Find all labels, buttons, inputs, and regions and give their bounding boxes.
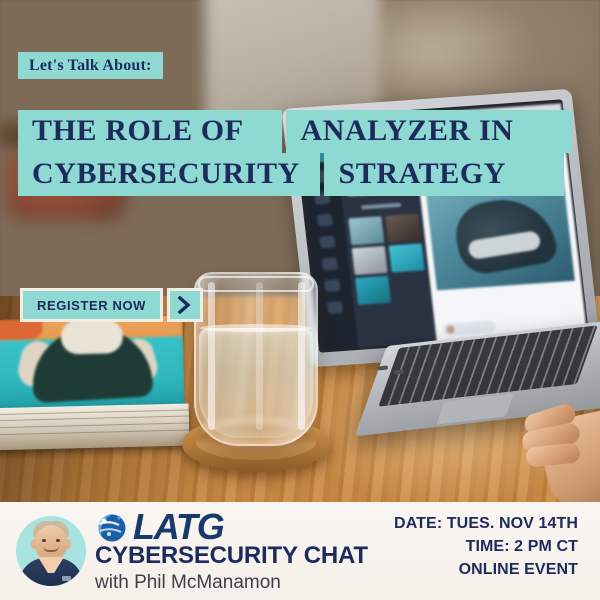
logo-row: LATG (95, 510, 395, 544)
headline-text-3: CYBERSECURITY (32, 156, 300, 191)
headline-text-4: STRATEGY (338, 156, 506, 191)
headline-line-1: THE ROLE OF (18, 110, 282, 153)
show-title: CYBERSECURITY CHAT (95, 542, 395, 570)
cover-blur (0, 316, 185, 413)
magazine-cover (0, 316, 185, 413)
avatar (16, 516, 86, 586)
logo-wordmark: LATG (133, 511, 224, 543)
promo-graphic: Let's Talk About: THE ROLE OF ANALYZER I… (0, 0, 600, 600)
event-time: TIME: 2 PM CT (394, 535, 578, 558)
magazine-stack (0, 316, 186, 449)
headline-block: THE ROLE OF ANALYZER IN CYBERSECURITY ST… (18, 110, 600, 196)
event-date: DATE: TUES. NOV 14TH (394, 512, 578, 535)
register-cta[interactable]: REGISTER NOW (20, 288, 203, 322)
hand (520, 375, 600, 495)
event-details: DATE: TUES. NOV 14TH TIME: 2 PM CT ONLIN… (394, 512, 578, 581)
headline-line-2: ANALYZER IN (286, 110, 572, 153)
headline-line-4: STRATEGY (324, 153, 564, 196)
headline-text-2: ANALYZER IN (300, 113, 513, 148)
kicker-text: Let's Talk About: (29, 57, 152, 75)
register-now-label: REGISTER NOW (37, 298, 146, 313)
globe-icon (95, 510, 129, 544)
chevron-right-icon[interactable] (167, 288, 203, 322)
glass-of-water (194, 272, 318, 446)
event-format: ONLINE EVENT (394, 558, 578, 581)
magazine-pages (0, 403, 190, 450)
register-now-button[interactable]: REGISTER NOW (20, 288, 163, 322)
headline-text-1: THE ROLE OF (32, 113, 244, 148)
host-line: with Phil McManamon (95, 571, 395, 595)
brand-block: LATG CYBERSECURITY CHAT with Phil McMana… (95, 510, 395, 595)
headline-line-3: CYBERSECURITY (18, 153, 320, 196)
kicker-banner: Let's Talk About: (18, 52, 163, 79)
